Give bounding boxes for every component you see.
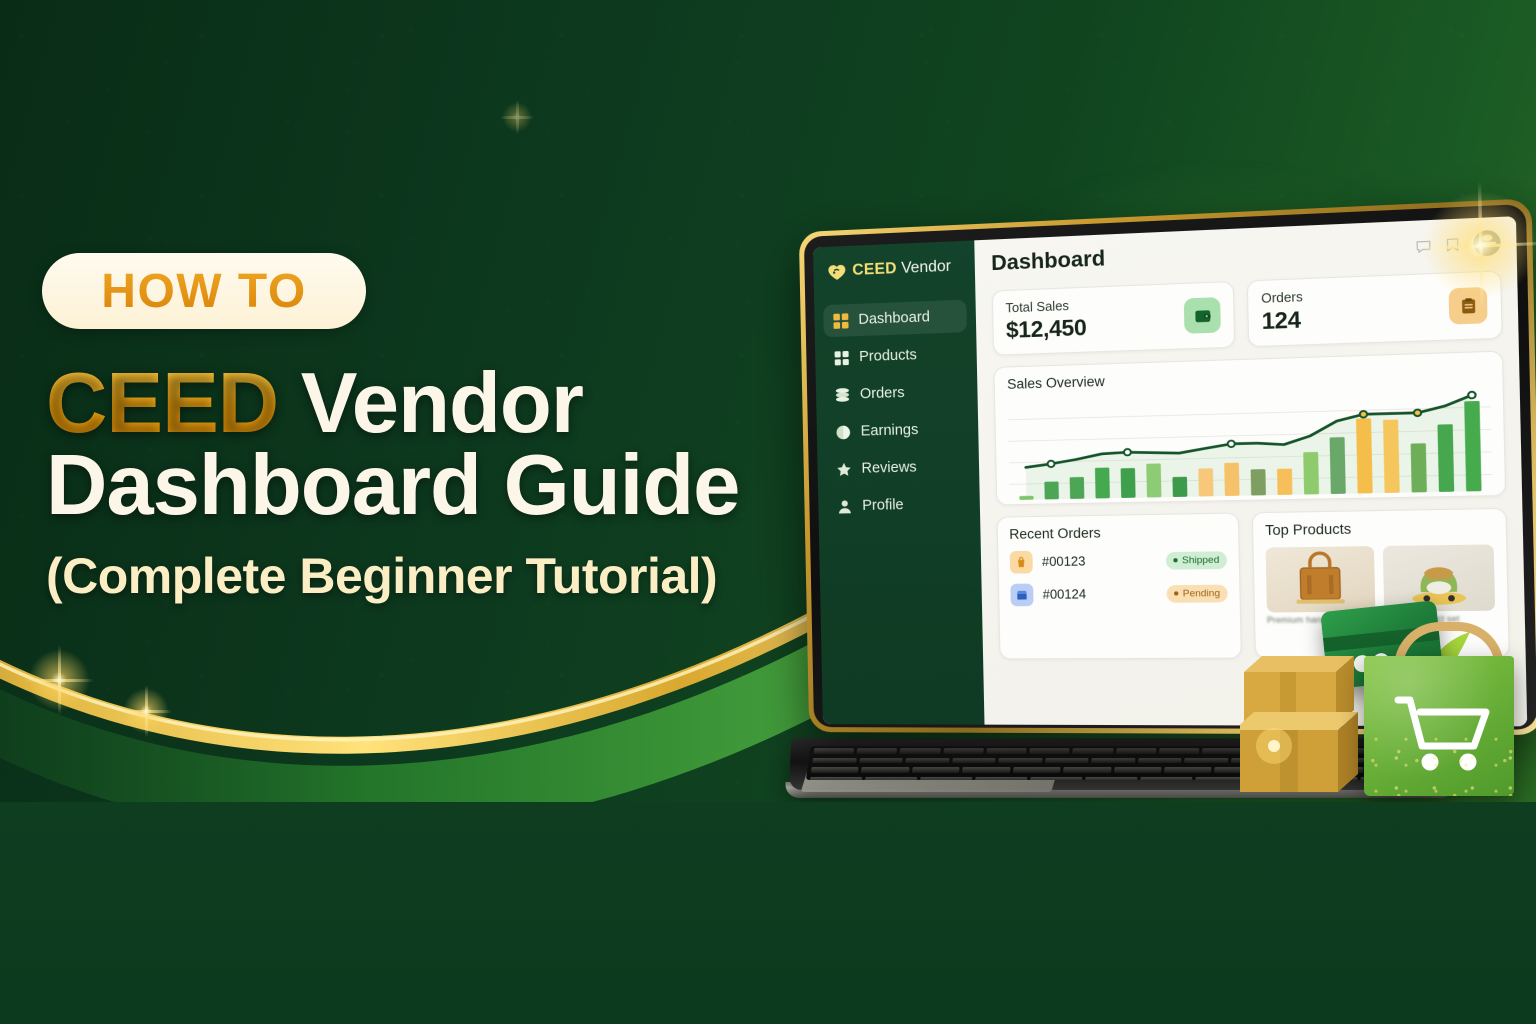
chart-bar — [1330, 437, 1346, 494]
recent-orders-title: Recent Orders — [1009, 523, 1226, 542]
title-word-vendor: Vendor — [301, 356, 583, 451]
sidebar-item-profile[interactable]: Profile — [827, 488, 971, 523]
page-title: Dashboard — [991, 247, 1106, 276]
chart-marker — [1414, 409, 1422, 416]
chart-bar — [1198, 468, 1213, 496]
wallet-icon-wrap — [1184, 297, 1221, 334]
sidebar-item-label: Reviews — [861, 459, 917, 476]
stack-icon — [835, 387, 850, 402]
chart-bar — [1019, 496, 1033, 500]
chart-marker — [1468, 392, 1476, 399]
sidebar-item-orders[interactable]: Orders — [825, 375, 969, 412]
box-grid-icon — [834, 350, 849, 366]
sidebar-item-label: Earnings — [861, 422, 919, 440]
clipboard-icon-wrap — [1449, 287, 1488, 325]
ceed-heart-logo-icon — [827, 263, 846, 281]
stat-label: Total Sales — [1005, 298, 1086, 315]
stat-card-total-sales: Total Sales $12,450 — [992, 281, 1235, 356]
sidebar-item-dashboard[interactable]: Dashboard — [823, 300, 967, 338]
status-badge: Pending — [1167, 584, 1228, 602]
page-background-strip — [0, 802, 1536, 1024]
store-icon — [1016, 589, 1029, 601]
bag-body — [1364, 656, 1514, 796]
banner-title-block: CEED Vendor Dashboard Guide (Complete Be… — [46, 360, 806, 605]
sidebar-item-label: Orders — [860, 385, 905, 402]
status-dot — [1174, 591, 1178, 595]
order-row[interactable]: #00123 Shipped — [1010, 548, 1227, 573]
chart-bar — [1437, 424, 1454, 492]
shopping-bag-graphic — [1364, 624, 1514, 796]
status-label: Shipped — [1182, 554, 1220, 566]
status-badge: Shipped — [1166, 551, 1227, 569]
store-icon-wrap — [1010, 584, 1033, 607]
chart-bar — [1356, 418, 1373, 493]
chart-marker — [1124, 449, 1131, 456]
sidebar-item-label: Products — [859, 347, 917, 365]
chart-bar — [1121, 468, 1136, 498]
sales-chart — [1007, 382, 1492, 504]
bag-icon — [1015, 556, 1028, 568]
chart-bar — [1095, 468, 1110, 499]
brand-text: CEED Vendor — [852, 258, 951, 280]
clipboard-icon — [1458, 296, 1478, 315]
pie-chart-icon — [836, 424, 851, 439]
header-icons — [1415, 230, 1501, 259]
chart-bar — [1172, 477, 1187, 497]
recent-orders-panel: Recent Orders #00123 — [997, 512, 1242, 659]
chart-bar — [1383, 420, 1400, 493]
dashboard-header: Dashboard — [991, 230, 1501, 277]
brand-word: CEED — [46, 356, 278, 451]
chart-marker — [1048, 461, 1055, 468]
chat-bubble-icon[interactable] — [1415, 237, 1432, 254]
user-icon — [837, 499, 852, 514]
stat-card-orders: Orders 124 — [1247, 270, 1503, 347]
chart-bar — [1146, 463, 1161, 497]
chart-bar — [1303, 452, 1319, 495]
sidebar-item-label: Profile — [862, 497, 904, 514]
grid-icon — [833, 313, 848, 329]
chart-bar — [1224, 463, 1239, 496]
chart-bar — [1044, 481, 1059, 499]
sidebar-item-earnings[interactable]: Earnings — [825, 412, 969, 448]
chart-marker — [1228, 441, 1235, 448]
chart-marker — [1360, 411, 1367, 418]
stat-label: Orders — [1261, 290, 1303, 306]
title-line-2: Dashboard Guide — [46, 442, 806, 530]
sidebar-item-label: Dashboard — [858, 309, 930, 328]
banner-subtitle: (Complete Beginner Tutorial) — [46, 547, 806, 605]
chart-bar — [1464, 401, 1481, 492]
chart-bar — [1411, 443, 1427, 492]
order-id: #00123 — [1042, 553, 1157, 569]
wallet-icon — [1193, 306, 1212, 324]
how-to-badge: HOW TO — [42, 253, 366, 329]
stat-value: $12,450 — [1006, 315, 1087, 344]
brand-logo: CEED Vendor — [813, 257, 975, 282]
status-label: Pending — [1183, 587, 1221, 599]
bag-glitter — [1364, 734, 1514, 796]
stat-value: 124 — [1261, 307, 1303, 336]
brand-name-light: Vendor — [901, 258, 951, 277]
sidebar-nav: Dashboard Products — [814, 299, 980, 522]
order-row[interactable]: #00124 Pending — [1010, 581, 1228, 606]
sidebar-item-products[interactable]: Products — [824, 337, 968, 374]
bookmark-icon[interactable] — [1444, 236, 1461, 253]
brand-name-bold: CEED — [852, 260, 897, 279]
chart-bar — [1277, 469, 1292, 496]
status-dot — [1173, 558, 1177, 562]
sales-chart-svg — [1007, 382, 1492, 504]
chart-bar — [1070, 477, 1085, 499]
order-id: #00124 — [1042, 586, 1157, 602]
how-to-label: HOW TO — [101, 264, 306, 319]
chart-bar — [1251, 469, 1266, 495]
sidebar: CEED Vendor — [813, 240, 984, 724]
star-icon — [836, 461, 851, 476]
avatar[interactable] — [1473, 230, 1501, 257]
sidebar-item-reviews[interactable]: Reviews — [826, 450, 970, 485]
promo-banner: HOW TO CEED Vendor Dashboard Guide (Comp… — [0, 0, 1536, 802]
bag-icon-wrap — [1010, 551, 1033, 574]
title-line-1: CEED Vendor — [46, 360, 806, 448]
top-products-title: Top Products — [1265, 519, 1494, 538]
stat-cards: Total Sales $12,450 — [992, 270, 1503, 355]
sales-overview-panel: Sales Overview — [993, 351, 1506, 506]
banner-stage: HOW TO CEED Vendor Dashboard Guide (Comp… — [0, 0, 1536, 1024]
